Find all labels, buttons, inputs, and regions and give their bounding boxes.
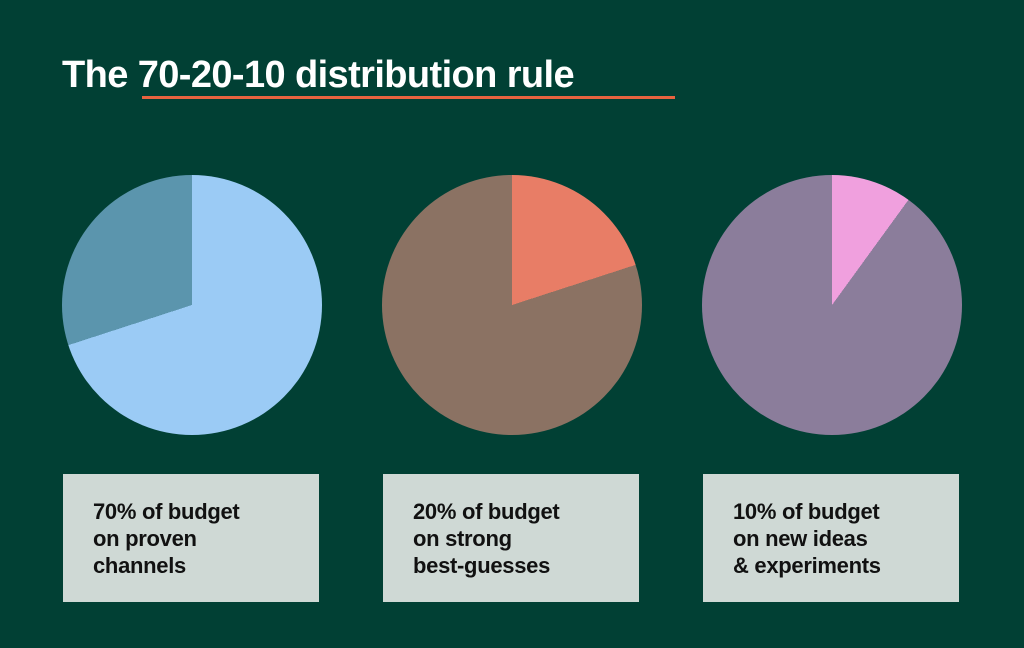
pie-chart-70	[55, 170, 330, 445]
pie-slice-group-10	[702, 175, 962, 435]
caption-box-10: 10% of budget on new ideas & experiments	[703, 474, 959, 602]
caption-box-70: 70% of budget on proven channels	[63, 474, 319, 602]
title-underline-accent	[142, 96, 675, 99]
caption-box-20: 20% of budget on strong best-guesses	[383, 474, 639, 602]
pie-slice-group-20	[382, 175, 642, 435]
pie-chart-row	[0, 170, 1024, 445]
caption-row: 70% of budget on proven channels 20% of …	[0, 474, 1024, 602]
page-title-text: The 70-20-10 distribution rule	[62, 52, 822, 98]
pie-chart-20	[375, 170, 650, 445]
caption-text-20: 20% of budget on strong best-guesses	[383, 498, 571, 579]
infographic-root: The 70-20-10 distribution rule 70% of bu…	[0, 0, 1024, 648]
pie-slice-group-70	[62, 175, 322, 435]
caption-text-10: 10% of budget on new ideas & experiments	[703, 498, 893, 579]
caption-text-70: 70% of budget on proven channels	[63, 498, 251, 579]
page-title: The 70-20-10 distribution rule	[62, 52, 822, 112]
pie-chart-10	[695, 170, 970, 445]
